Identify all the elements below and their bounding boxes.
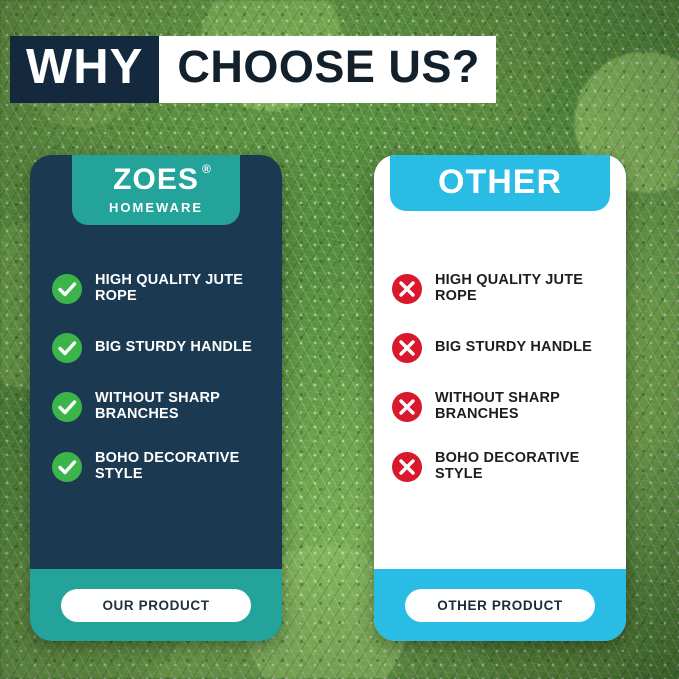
other-tag-label: OTHER <box>412 165 588 199</box>
card-our-product-footer: OUR PRODUCT <box>30 569 282 641</box>
cross-icon <box>392 392 422 422</box>
registered-trademark-icon: ® <box>202 163 212 175</box>
other-tag: OTHER <box>390 155 610 211</box>
brand-subtitle: HOMEWARE <box>90 200 222 215</box>
list-item-label: HIGH QUALITY JUTE ROPE <box>435 273 626 305</box>
check-icon <box>52 333 82 363</box>
our-product-badge: OUR PRODUCT <box>61 589 251 622</box>
brand-name-text: ZOES <box>113 163 199 196</box>
card-our-product: ZOES® HOMEWARE HIGH QUALITY JUTE ROPE BI… <box>30 155 282 641</box>
list-item-label: WITHOUT SHARP BRANCHES <box>435 391 626 423</box>
list-item: BOHO DECORATIVE STYLE <box>30 451 282 483</box>
card-our-product-body: ZOES® HOMEWARE HIGH QUALITY JUTE ROPE BI… <box>30 155 282 569</box>
card-other-product-body: OTHER HIGH QUALITY JUTE ROPE BIG STURDY … <box>374 155 626 569</box>
list-item-label: HIGH QUALITY JUTE ROPE <box>95 273 282 305</box>
cross-icon <box>392 452 422 482</box>
page-title: WHY CHOOSE US? <box>10 36 496 103</box>
list-item: BOHO DECORATIVE STYLE <box>374 451 626 483</box>
check-icon <box>52 274 82 304</box>
title-word-choose-us: CHOOSE US? <box>159 36 496 103</box>
list-item: HIGH QUALITY JUTE ROPE <box>374 273 626 305</box>
cross-icon <box>392 274 422 304</box>
brand-tag-zoes: ZOES® HOMEWARE <box>72 155 240 225</box>
list-item-label: BOHO DECORATIVE STYLE <box>435 451 626 483</box>
list-item: BIG STURDY HANDLE <box>30 333 282 363</box>
list-item: HIGH QUALITY JUTE ROPE <box>30 273 282 305</box>
list-item-label: BIG STURDY HANDLE <box>435 340 592 356</box>
title-word-why: WHY <box>10 36 159 103</box>
cross-icon <box>392 333 422 363</box>
list-item-label: BOHO DECORATIVE STYLE <box>95 451 282 483</box>
other-product-badge: OTHER PRODUCT <box>405 589 595 622</box>
list-item: WITHOUT SHARP BRANCHES <box>30 391 282 423</box>
check-icon <box>52 452 82 482</box>
list-item: BIG STURDY HANDLE <box>374 333 626 363</box>
card-other-product-footer: OTHER PRODUCT <box>374 569 626 641</box>
our-product-feature-list: HIGH QUALITY JUTE ROPE BIG STURDY HANDLE… <box>30 273 282 511</box>
list-item: WITHOUT SHARP BRANCHES <box>374 391 626 423</box>
list-item-label: WITHOUT SHARP BRANCHES <box>95 391 282 423</box>
brand-name: ZOES® <box>113 165 199 195</box>
other-product-feature-list: HIGH QUALITY JUTE ROPE BIG STURDY HANDLE… <box>374 273 626 511</box>
card-other-product: OTHER HIGH QUALITY JUTE ROPE BIG STURDY … <box>374 155 626 641</box>
check-icon <box>52 392 82 422</box>
list-item-label: BIG STURDY HANDLE <box>95 340 252 356</box>
